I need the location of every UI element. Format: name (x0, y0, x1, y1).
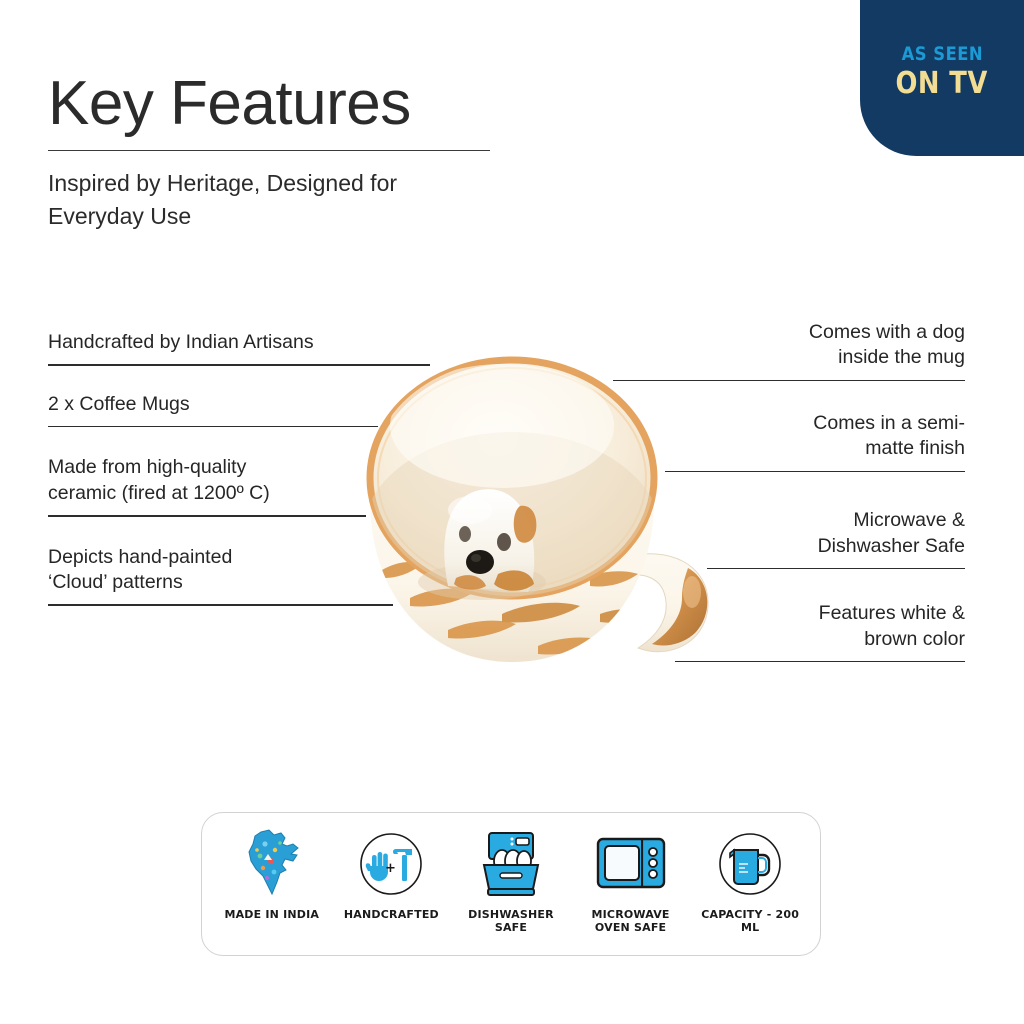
as-seen-on-tv-line1: AS SEEN (901, 43, 982, 65)
badge-label: DISHWASHER SAFE (452, 909, 570, 935)
badge-handcrafted: + HANDCRAFTED (332, 825, 450, 943)
badge-dishwasher-safe: DISHWASHER SAFE (452, 825, 570, 943)
infographic-page: AS SEEN ON TV Key Features Inspired by H… (0, 0, 1024, 1024)
feature-rule (48, 426, 378, 427)
badge-label: HANDCRAFTED (344, 909, 439, 922)
page-title: Key Features (48, 72, 498, 136)
dog-eye-right (497, 533, 511, 551)
feature-rule (48, 604, 393, 605)
badge-label: MADE IN INDIA (224, 909, 319, 922)
product-image-mug (352, 330, 722, 690)
badge-capacity: CAPACITY - 200 ML (691, 825, 809, 943)
jug-icon (712, 825, 788, 903)
badge-label: MICROWAVE OVEN SAFE (591, 909, 669, 935)
as-seen-on-tv-badge: AS SEEN ON TV (860, 0, 1024, 156)
microwave-icon (592, 825, 670, 903)
feature-rule (48, 515, 366, 516)
badge-label: CAPACITY - 200 ML (691, 909, 809, 935)
header: Key Features Inspired by Heritage, Desig… (48, 72, 498, 233)
dishwasher-icon (472, 825, 550, 903)
dog-eye-left (459, 526, 471, 542)
india-map-icon (241, 825, 303, 903)
hand-hammer-icon: + (353, 825, 429, 903)
page-subtitle: Inspired by Heritage, Designed for Every… (48, 167, 498, 232)
badge-made-in-india: MADE IN INDIA (213, 825, 331, 943)
badge-microwave-oven-safe: MICROWAVE OVEN SAFE (572, 825, 690, 943)
certification-badge-card: MADE IN INDIA + (201, 812, 821, 956)
dog-nose (466, 550, 494, 574)
svg-text:+: + (385, 861, 396, 876)
feature-rule (707, 568, 965, 569)
as-seen-on-tv-line2: ON TV (896, 69, 988, 99)
title-divider (48, 150, 490, 151)
